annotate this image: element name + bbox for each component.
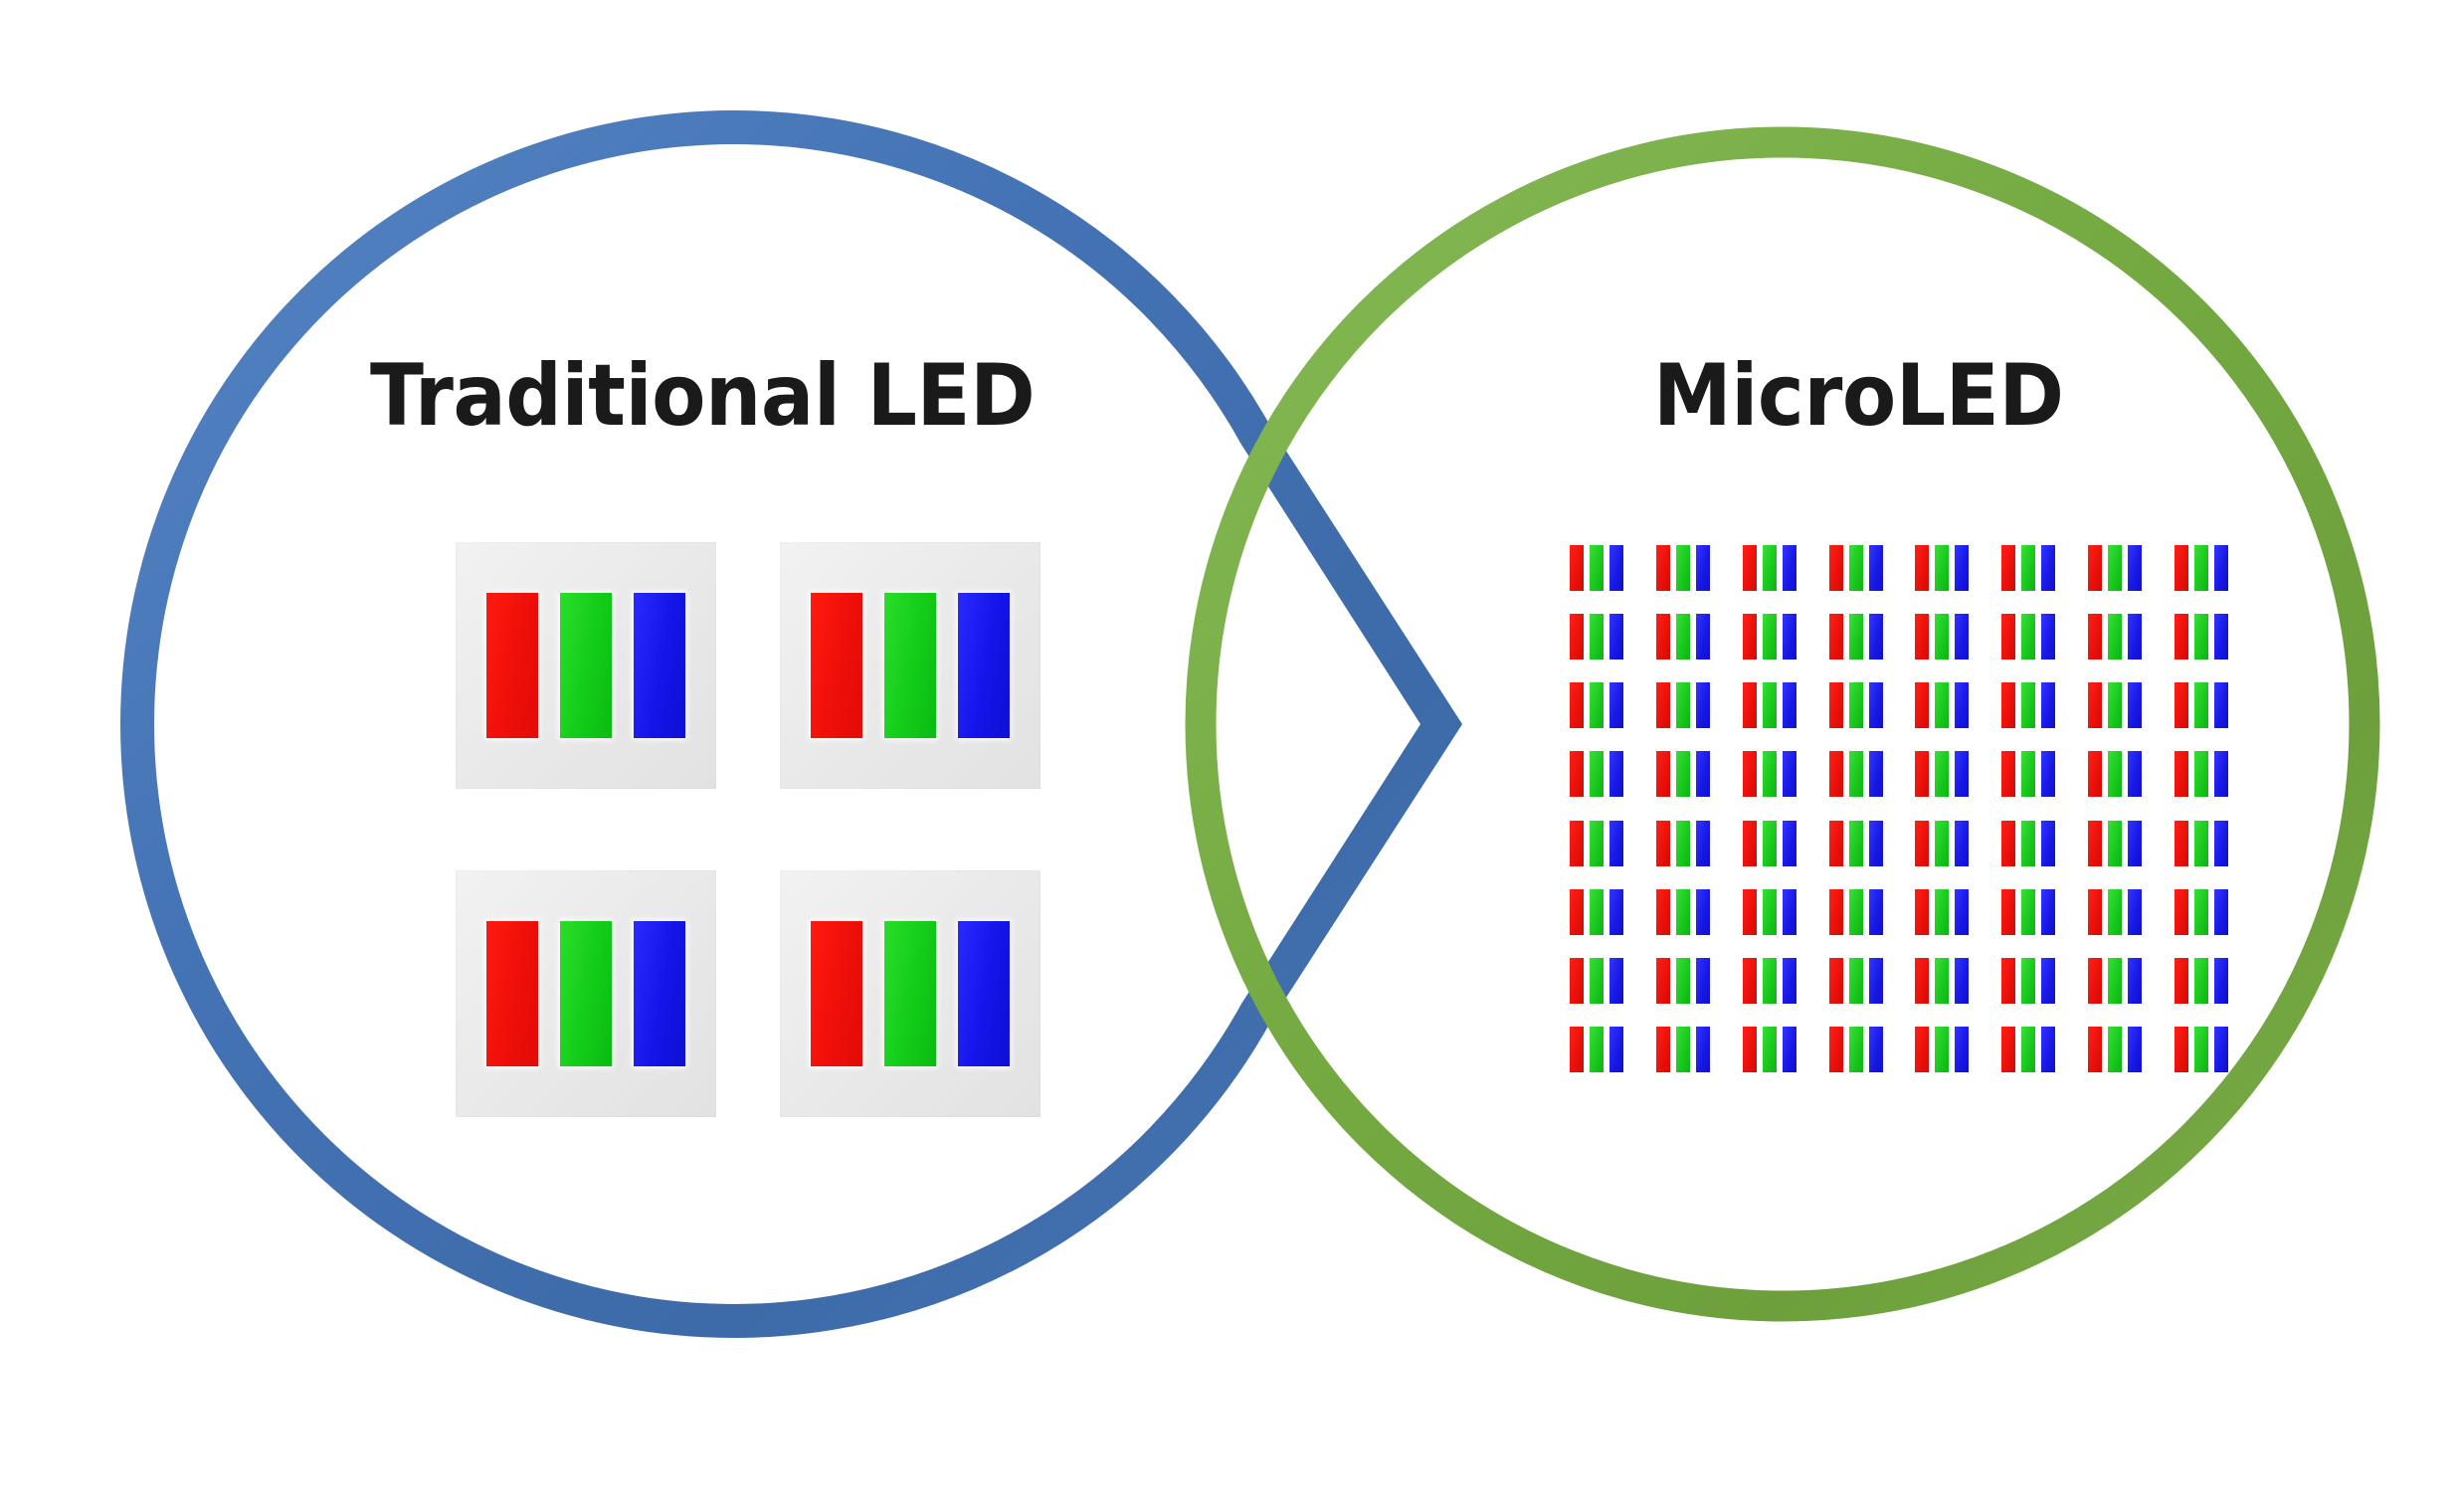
- microled-pixel-triplet: [2001, 958, 2055, 1004]
- micro-subpixel-green: [2194, 614, 2208, 660]
- microled-row: [1570, 614, 2228, 660]
- micro-subpixel-blue: [2214, 958, 2228, 1004]
- microled-pixel-triplet: [2088, 821, 2142, 866]
- micro-subpixel-blue: [1609, 751, 1623, 797]
- micro-subpixel-green: [1676, 751, 1690, 797]
- microled-pixel-triplet: [1829, 545, 1883, 591]
- microled-pixel-triplet: [1829, 614, 1883, 660]
- microled-pixel-triplet: [1656, 958, 1710, 1004]
- micro-subpixel-blue: [1869, 958, 1883, 1004]
- microled-pixel-triplet: [2001, 545, 2055, 591]
- micro-subpixel-green: [1676, 682, 1690, 728]
- micro-subpixel-blue: [2041, 958, 2055, 1004]
- micro-subpixel-green: [1763, 889, 1777, 935]
- micro-subpixel-green: [1590, 821, 1604, 866]
- micro-subpixel-red: [1570, 889, 1584, 935]
- micro-subpixel-red: [1570, 751, 1584, 797]
- micro-subpixel-blue: [1869, 889, 1883, 935]
- micro-subpixel-red: [1656, 545, 1670, 591]
- micro-subpixel-blue: [2214, 821, 2228, 866]
- micro-subpixel-green: [2194, 751, 2208, 797]
- micro-subpixel-red: [1915, 614, 1929, 660]
- microled-pixel-triplet: [1570, 821, 1623, 866]
- micro-subpixel-blue: [1783, 751, 1797, 797]
- microled-pixel-triplet: [1915, 889, 1969, 935]
- micro-subpixel-blue: [1869, 751, 1883, 797]
- microled-pixel-triplet: [1915, 821, 1969, 866]
- subpixel-blue: [958, 593, 1010, 738]
- microled-row: [1570, 1027, 2228, 1072]
- micro-subpixel-blue: [1869, 682, 1883, 728]
- microled-pixel-triplet: [2088, 545, 2142, 591]
- micro-subpixel-green: [2108, 751, 2122, 797]
- microled-pixel-triplet: [2088, 682, 2142, 728]
- traditional-pixel-block: [456, 870, 716, 1117]
- micro-subpixel-red: [1915, 545, 1929, 591]
- microled-pixel-triplet: [1656, 1027, 1710, 1072]
- microled-pixel-triplet: [1829, 1027, 1883, 1072]
- micro-subpixel-green: [1590, 889, 1604, 935]
- micro-subpixel-green: [1676, 958, 1690, 1004]
- micro-subpixel-red: [2001, 889, 2015, 935]
- micro-subpixel-green: [1590, 545, 1604, 591]
- micro-subpixel-red: [2001, 614, 2015, 660]
- micro-subpixel-green: [1849, 889, 1863, 935]
- diagram-canvas: Traditional LED MicroLED: [0, 0, 2459, 1512]
- micro-subpixel-green: [2194, 682, 2208, 728]
- micro-subpixel-blue: [2214, 889, 2228, 935]
- micro-subpixel-blue: [2128, 682, 2142, 728]
- micro-subpixel-red: [2001, 821, 2015, 866]
- micro-subpixel-green: [2021, 889, 2035, 935]
- microled-pixel-triplet: [1743, 682, 1797, 728]
- micro-subpixel-blue: [2041, 751, 2055, 797]
- microled-pixel-triplet: [2001, 682, 2055, 728]
- micro-subpixel-green: [1849, 821, 1863, 866]
- microled-pixel-triplet: [1915, 545, 1969, 591]
- micro-subpixel-blue: [2041, 889, 2055, 935]
- micro-subpixel-red: [2088, 545, 2102, 591]
- micro-subpixel-green: [1849, 614, 1863, 660]
- micro-subpixel-red: [2001, 1027, 2015, 1072]
- micro-subpixel-blue: [2214, 751, 2228, 797]
- micro-subpixel-blue: [2128, 821, 2142, 866]
- micro-subpixel-blue: [1696, 751, 1710, 797]
- micro-subpixel-green: [2108, 958, 2122, 1004]
- micro-subpixel-red: [1915, 821, 1929, 866]
- microled-pixel-triplet: [1570, 1027, 1623, 1072]
- micro-subpixel-green: [1935, 889, 1949, 935]
- micro-subpixel-red: [2175, 958, 2188, 1004]
- micro-subpixel-red: [2175, 1027, 2188, 1072]
- micro-subpixel-green: [1935, 682, 1949, 728]
- micro-subpixel-red: [1829, 614, 1843, 660]
- microled-pixel-triplet: [1829, 958, 1883, 1004]
- micro-subpixel-green: [1590, 751, 1604, 797]
- micro-subpixel-blue: [2128, 889, 2142, 935]
- micro-subpixel-red: [2001, 751, 2015, 797]
- microled-pixel-array: [1570, 545, 2228, 1072]
- micro-subpixel-blue: [1696, 821, 1710, 866]
- microled-pixel-triplet: [1915, 614, 1969, 660]
- micro-subpixel-blue: [1609, 958, 1623, 1004]
- micro-subpixel-red: [1656, 1027, 1670, 1072]
- microled-pixel-triplet: [1915, 958, 1969, 1004]
- micro-subpixel-green: [1676, 1027, 1690, 1072]
- microled-pixel-triplet: [1656, 889, 1710, 935]
- microled-pixel-triplet: [1743, 614, 1797, 660]
- micro-subpixel-blue: [1696, 958, 1710, 1004]
- micro-subpixel-blue: [1696, 889, 1710, 935]
- microled-row: [1570, 545, 2228, 591]
- micro-subpixel-blue: [1869, 1027, 1883, 1072]
- micro-subpixel-green: [1676, 614, 1690, 660]
- micro-subpixel-blue: [2214, 1027, 2228, 1072]
- micro-subpixel-blue: [1955, 682, 1969, 728]
- micro-subpixel-red: [1743, 545, 1757, 591]
- microled-pixel-triplet: [1743, 958, 1797, 1004]
- microled-pixel-triplet: [1570, 545, 1623, 591]
- micro-subpixel-blue: [1869, 821, 1883, 866]
- micro-subpixel-blue: [2041, 614, 2055, 660]
- micro-subpixel-red: [2088, 821, 2102, 866]
- micro-subpixel-red: [1915, 751, 1929, 797]
- micro-subpixel-blue: [1609, 889, 1623, 935]
- micro-subpixel-red: [2175, 889, 2188, 935]
- micro-subpixel-blue: [1696, 614, 1710, 660]
- micro-subpixel-blue: [1955, 614, 1969, 660]
- microled-pixel-triplet: [1656, 821, 1710, 866]
- micro-subpixel-green: [1935, 958, 1949, 1004]
- micro-subpixel-green: [2021, 545, 2035, 591]
- micro-subpixel-blue: [1696, 1027, 1710, 1072]
- micro-subpixel-red: [1743, 958, 1757, 1004]
- micro-subpixel-blue: [1609, 682, 1623, 728]
- micro-subpixel-green: [1763, 1027, 1777, 1072]
- microled-pixel-triplet: [1570, 889, 1623, 935]
- micro-subpixel-green: [1935, 1027, 1949, 1072]
- microled-pixel-triplet: [1743, 751, 1797, 797]
- micro-subpixel-green: [1935, 821, 1949, 866]
- micro-subpixel-green: [1763, 682, 1777, 728]
- micro-subpixel-red: [1829, 958, 1843, 1004]
- micro-subpixel-blue: [1783, 958, 1797, 1004]
- micro-subpixel-green: [1763, 751, 1777, 797]
- micro-subpixel-blue: [2041, 1027, 2055, 1072]
- microled-pixel-triplet: [2175, 958, 2228, 1004]
- microled-pixel-triplet: [2088, 751, 2142, 797]
- micro-subpixel-red: [2175, 545, 2188, 591]
- microled-pixel-triplet: [1829, 889, 1883, 935]
- microled-pixel-triplet: [1656, 751, 1710, 797]
- traditional-pixel-grid: [456, 542, 1040, 1129]
- microled-pixel-triplet: [2001, 889, 2055, 935]
- micro-subpixel-blue: [2128, 958, 2142, 1004]
- micro-subpixel-red: [2088, 682, 2102, 728]
- micro-subpixel-blue: [1783, 889, 1797, 935]
- microled-pixel-triplet: [1656, 614, 1710, 660]
- micro-subpixel-green: [2021, 751, 2035, 797]
- micro-subpixel-green: [2108, 1027, 2122, 1072]
- micro-subpixel-green: [1935, 545, 1949, 591]
- micro-subpixel-red: [1915, 1027, 1929, 1072]
- microled-pixel-triplet: [2175, 751, 2228, 797]
- micro-subpixel-red: [1570, 958, 1584, 1004]
- micro-subpixel-red: [2088, 614, 2102, 660]
- microled-pixel-triplet: [2175, 545, 2228, 591]
- micro-subpixel-red: [1829, 1027, 1843, 1072]
- micro-subpixel-green: [2021, 682, 2035, 728]
- micro-subpixel-red: [1570, 821, 1584, 866]
- microled-pixel-triplet: [1743, 1027, 1797, 1072]
- subpixel-green: [560, 921, 612, 1066]
- micro-subpixel-blue: [2128, 751, 2142, 797]
- micro-subpixel-red: [1743, 1027, 1757, 1072]
- micro-subpixel-blue: [1955, 751, 1969, 797]
- microled-pixel-triplet: [1743, 889, 1797, 935]
- microled-pixel-triplet: [1743, 821, 1797, 866]
- micro-subpixel-red: [2088, 958, 2102, 1004]
- microled-pixel-triplet: [1570, 682, 1623, 728]
- microled-row: [1570, 682, 2228, 728]
- micro-subpixel-blue: [1869, 545, 1883, 591]
- micro-subpixel-blue: [1609, 545, 1623, 591]
- micro-subpixel-blue: [1955, 821, 1969, 866]
- micro-subpixel-green: [2021, 614, 2035, 660]
- micro-subpixel-green: [2021, 958, 2035, 1004]
- micro-subpixel-red: [2088, 889, 2102, 935]
- subpixel-green: [560, 593, 612, 738]
- microled-pixel-triplet: [1915, 682, 1969, 728]
- micro-subpixel-red: [2001, 958, 2015, 1004]
- micro-subpixel-blue: [2214, 682, 2228, 728]
- subpixel-blue: [958, 921, 1010, 1066]
- micro-subpixel-red: [1656, 751, 1670, 797]
- micro-subpixel-green: [1935, 614, 1949, 660]
- microled-pixel-triplet: [2088, 889, 2142, 935]
- micro-subpixel-red: [1656, 958, 1670, 1004]
- micro-subpixel-blue: [1955, 1027, 1969, 1072]
- micro-subpixel-blue: [2214, 614, 2228, 660]
- traditional-pixel-block: [780, 870, 1040, 1117]
- micro-subpixel-red: [1656, 614, 1670, 660]
- microled-row: [1570, 889, 2228, 935]
- micro-subpixel-green: [1676, 821, 1690, 866]
- microled-pixel-triplet: [2088, 614, 2142, 660]
- micro-subpixel-green: [1935, 751, 1949, 797]
- micro-subpixel-blue: [1783, 1027, 1797, 1072]
- micro-subpixel-red: [1743, 889, 1757, 935]
- micro-subpixel-blue: [1696, 682, 1710, 728]
- micro-subpixel-red: [1829, 821, 1843, 866]
- microled-pixel-triplet: [2001, 751, 2055, 797]
- micro-subpixel-red: [2088, 751, 2102, 797]
- micro-subpixel-green: [1849, 751, 1863, 797]
- microled-pixel-triplet: [1656, 545, 1710, 591]
- microled-pixel-triplet: [2088, 1027, 2142, 1072]
- microled-pixel-triplet: [1915, 1027, 1969, 1072]
- micro-subpixel-green: [1763, 821, 1777, 866]
- microled-pixel-triplet: [1829, 682, 1883, 728]
- subpixel-red: [486, 593, 538, 738]
- microled-pixel-triplet: [1570, 958, 1623, 1004]
- micro-subpixel-blue: [1955, 545, 1969, 591]
- traditional-pixel-block: [456, 542, 716, 789]
- micro-subpixel-green: [2194, 889, 2208, 935]
- micro-subpixel-green: [2108, 889, 2122, 935]
- subpixel-red: [811, 593, 862, 738]
- micro-subpixel-blue: [1609, 1027, 1623, 1072]
- micro-subpixel-blue: [1955, 889, 1969, 935]
- subpixel-blue: [634, 921, 685, 1066]
- micro-subpixel-blue: [2128, 614, 2142, 660]
- micro-subpixel-green: [1676, 889, 1690, 935]
- microled-pixel-triplet: [1915, 751, 1969, 797]
- micro-subpixel-blue: [2041, 821, 2055, 866]
- micro-subpixel-red: [1743, 614, 1757, 660]
- subpixel-green: [884, 921, 936, 1066]
- micro-subpixel-blue: [2214, 545, 2228, 591]
- micro-subpixel-blue: [1869, 614, 1883, 660]
- micro-subpixel-blue: [1783, 821, 1797, 866]
- micro-subpixel-blue: [2041, 545, 2055, 591]
- microled-pixel-triplet: [2001, 614, 2055, 660]
- micro-subpixel-green: [1849, 682, 1863, 728]
- micro-subpixel-blue: [2128, 1027, 2142, 1072]
- micro-subpixel-red: [2175, 821, 2188, 866]
- micro-subpixel-red: [1743, 751, 1757, 797]
- microled-row: [1570, 821, 2228, 866]
- micro-subpixel-green: [2194, 958, 2208, 1004]
- micro-subpixel-red: [1570, 1027, 1584, 1072]
- micro-subpixel-red: [1829, 682, 1843, 728]
- micro-subpixel-red: [1570, 545, 1584, 591]
- microled-pixel-triplet: [2175, 821, 2228, 866]
- micro-subpixel-green: [1676, 545, 1690, 591]
- micro-subpixel-green: [1590, 614, 1604, 660]
- micro-subpixel-green: [1763, 545, 1777, 591]
- micro-subpixel-blue: [1696, 545, 1710, 591]
- microled-pixel-triplet: [1570, 751, 1623, 797]
- micro-subpixel-green: [2021, 821, 2035, 866]
- micro-subpixel-green: [2194, 545, 2208, 591]
- microled-pixel-triplet: [2088, 958, 2142, 1004]
- micro-subpixel-red: [2001, 682, 2015, 728]
- microled-pixel-triplet: [1743, 545, 1797, 591]
- micro-subpixel-blue: [1783, 545, 1797, 591]
- microled-pixel-triplet: [2175, 1027, 2228, 1072]
- micro-subpixel-green: [2108, 545, 2122, 591]
- micro-subpixel-green: [2108, 821, 2122, 866]
- micro-subpixel-green: [1590, 958, 1604, 1004]
- micro-subpixel-blue: [2128, 545, 2142, 591]
- micro-subpixel-green: [1763, 614, 1777, 660]
- subpixel-green: [884, 593, 936, 738]
- micro-subpixel-blue: [1609, 821, 1623, 866]
- micro-subpixel-red: [1656, 889, 1670, 935]
- micro-subpixel-green: [1849, 958, 1863, 1004]
- subpixel-red: [486, 921, 538, 1066]
- microled-pixel-triplet: [2175, 889, 2228, 935]
- microled-pixel-triplet: [2001, 1027, 2055, 1072]
- microled-pixel-triplet: [1656, 682, 1710, 728]
- microled-pixel-triplet: [1829, 751, 1883, 797]
- micro-subpixel-green: [1849, 545, 1863, 591]
- microled-row: [1570, 958, 2228, 1004]
- micro-subpixel-green: [2021, 1027, 2035, 1072]
- micro-subpixel-blue: [1783, 614, 1797, 660]
- micro-subpixel-red: [1829, 889, 1843, 935]
- microled-pixel-triplet: [1570, 614, 1623, 660]
- micro-subpixel-green: [1590, 682, 1604, 728]
- microled-pixel-triplet: [2175, 614, 2228, 660]
- micro-subpixel-red: [1656, 821, 1670, 866]
- micro-subpixel-red: [1570, 682, 1584, 728]
- micro-subpixel-red: [2088, 1027, 2102, 1072]
- micro-subpixel-red: [2175, 614, 2188, 660]
- subpixel-red: [811, 921, 862, 1066]
- micro-subpixel-red: [1829, 751, 1843, 797]
- micro-subpixel-red: [1915, 889, 1929, 935]
- microled-pixel-triplet: [2001, 821, 2055, 866]
- micro-subpixel-blue: [1783, 682, 1797, 728]
- micro-subpixel-green: [1763, 958, 1777, 1004]
- micro-subpixel-red: [1743, 682, 1757, 728]
- micro-subpixel-red: [1656, 682, 1670, 728]
- micro-subpixel-green: [1849, 1027, 1863, 1072]
- microled-title: MicroLED: [1653, 346, 2064, 446]
- traditional-pixel-block: [780, 542, 1040, 789]
- micro-subpixel-blue: [2041, 682, 2055, 728]
- traditional-led-title: Traditional LED: [370, 346, 1035, 446]
- subpixel-blue: [634, 593, 685, 738]
- micro-subpixel-red: [1915, 682, 1929, 728]
- micro-subpixel-red: [1743, 821, 1757, 866]
- micro-subpixel-green: [2108, 682, 2122, 728]
- micro-subpixel-red: [1915, 958, 1929, 1004]
- micro-subpixel-red: [1829, 545, 1843, 591]
- micro-subpixel-red: [2175, 682, 2188, 728]
- micro-subpixel-red: [2175, 751, 2188, 797]
- micro-subpixel-blue: [1609, 614, 1623, 660]
- micro-subpixel-green: [1590, 1027, 1604, 1072]
- micro-subpixel-green: [2194, 1027, 2208, 1072]
- micro-subpixel-red: [2001, 545, 2015, 591]
- micro-subpixel-blue: [1955, 958, 1969, 1004]
- micro-subpixel-green: [2108, 614, 2122, 660]
- microled-pixel-triplet: [1829, 821, 1883, 866]
- microled-row: [1570, 751, 2228, 797]
- microled-pixel-triplet: [2175, 682, 2228, 728]
- micro-subpixel-red: [1570, 614, 1584, 660]
- micro-subpixel-green: [2194, 821, 2208, 866]
